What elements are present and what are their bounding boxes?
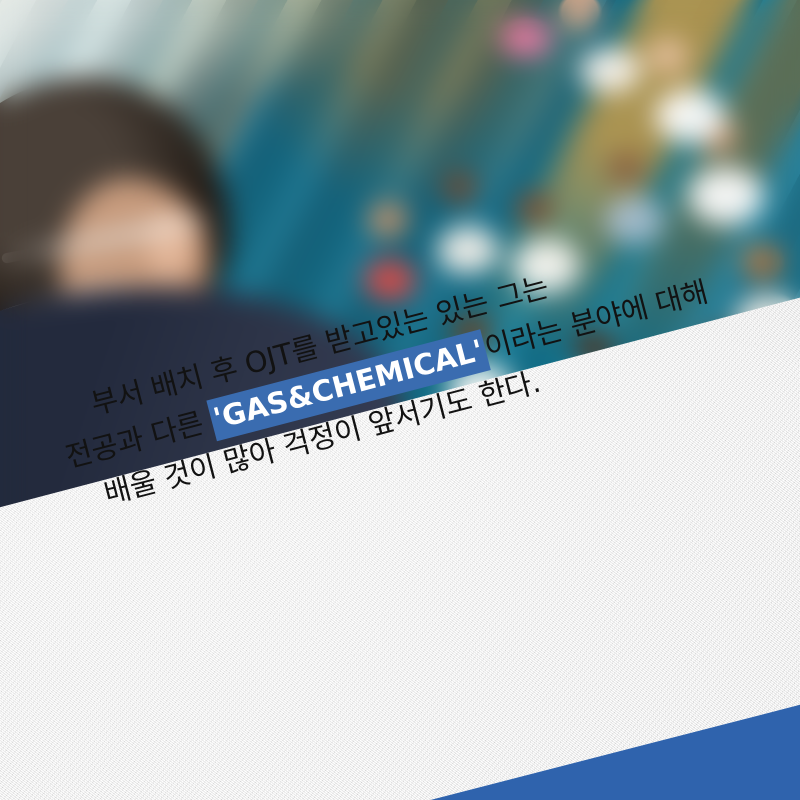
card-canvas: 부서 배치 후 OJT를 받고있는 있는 그는 전공과 다른 'GAS&CHEM… (0, 0, 800, 800)
